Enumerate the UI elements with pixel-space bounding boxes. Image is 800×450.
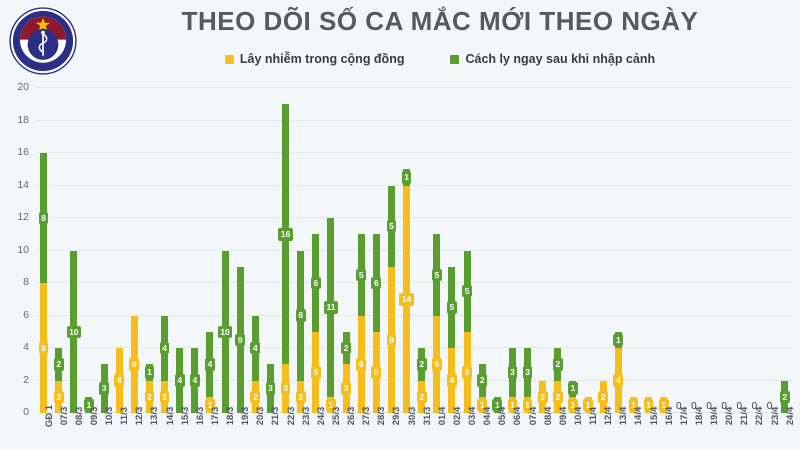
bar-column[interactable]: 1 (81, 88, 96, 413)
bar-column[interactable]: 3 (97, 88, 112, 413)
bar-segment-community[interactable]: 6 (358, 316, 365, 414)
bar-value-label: 6 (311, 277, 321, 290)
bar-column[interactable]: 82 (293, 88, 308, 413)
bar-segment-quarantined[interactable]: 5 (358, 234, 365, 315)
bar-segment-quarantined[interactable]: 8 (40, 153, 47, 283)
x-axis-tick: 23/3 (293, 415, 308, 450)
bar-column[interactable]: 22 (414, 88, 429, 413)
y-axis-tick: 14 (17, 179, 29, 191)
bar-segment-community[interactable]: 5 (373, 332, 380, 413)
legend-label-community: Lây nhiễm trong cộng đồng (240, 52, 405, 66)
bar-column[interactable]: 21 (475, 88, 490, 413)
bar-column[interactable]: 3 (263, 88, 278, 413)
bar-column[interactable]: 41 (202, 88, 217, 413)
bar-column[interactable]: 1 (656, 88, 671, 413)
x-axis-tick: 13/4 (611, 415, 626, 450)
bar-value-label: 8 (296, 309, 306, 322)
bar-segment-quarantined[interactable]: 1 (403, 169, 410, 185)
bar-column[interactable]: 14 (611, 88, 626, 413)
bar-segment-quarantined[interactable]: 4 (191, 348, 198, 413)
x-axis-tick: 07/3 (51, 415, 66, 450)
bar-column[interactable]: 54 (444, 88, 459, 413)
bar-value-label: 2 (598, 391, 608, 404)
bar-value-label: 4 (114, 374, 124, 387)
x-axis-tick: 11/4 (581, 415, 596, 450)
bar-value-label: 2 (145, 391, 155, 404)
bar-segment-community[interactable]: 6 (433, 316, 440, 414)
bar-column[interactable]: 56 (354, 88, 369, 413)
x-axis-tick: 05/4 (490, 415, 505, 450)
x-axis-tick: 10/4 (565, 415, 580, 450)
bar-column[interactable]: 31 (520, 88, 535, 413)
bar-column[interactable]: 42 (248, 88, 263, 413)
bar-column[interactable]: 1 (641, 88, 656, 413)
x-axis-tick: 16/4 (656, 415, 671, 450)
bar-column[interactable]: 163 (278, 88, 293, 413)
bar-segment-community[interactable]: 8 (40, 283, 47, 413)
bar-value-label: 4 (160, 342, 170, 355)
x-axis-tick: GĐ 1 (36, 415, 51, 450)
bar-value-label: 5 (356, 269, 366, 282)
bar-column[interactable]: 0 (762, 88, 777, 413)
bar-segment-quarantined[interactable]: 6 (312, 234, 319, 332)
x-axis-tick: 29/3 (384, 415, 399, 450)
bar-column[interactable]: 0 (702, 88, 717, 413)
bar-segment-quarantined[interactable]: 2 (55, 348, 62, 381)
x-axis-tick: 14/3 (157, 415, 172, 450)
bar-column[interactable]: 0 (732, 88, 747, 413)
bar-value-label: 2 (780, 391, 790, 404)
bar-value-label: 16 (278, 228, 292, 241)
bar-segment-quarantined[interactable]: 8 (297, 251, 304, 381)
x-axis-tick: 16/3 (187, 415, 202, 450)
bar-column[interactable]: 2 (535, 88, 550, 413)
bar-value-label: 4 (447, 374, 457, 387)
legend-label-quarantined: Cách ly ngay sau khi nhập cảnh (465, 52, 655, 66)
y-axis-tick: 20 (17, 81, 29, 93)
bar-value-label: 2 (341, 342, 351, 355)
bar-value-label: 4 (190, 374, 200, 387)
bar-value-label: 8 (39, 212, 49, 225)
bar-segment-community[interactable]: 4 (116, 348, 123, 413)
y-axis-tick: 6 (23, 309, 29, 321)
x-axis-tick: 22/3 (278, 415, 293, 450)
x-axis-tick: 28/3 (369, 415, 384, 450)
bar-column[interactable]: 4 (187, 88, 202, 413)
bar-segment-community[interactable]: 14 (403, 186, 410, 414)
x-axis-tick-label: 24/4 (785, 407, 796, 426)
bar-segment-quarantined[interactable]: 3 (267, 364, 274, 413)
bar-value-label: 5 (462, 366, 472, 379)
bar-column[interactable]: 2 (777, 88, 792, 413)
bar-value-label: 6 (432, 358, 442, 371)
x-axis-tick: 02/4 (444, 415, 459, 450)
x-axis-tick: 22/4 (747, 415, 762, 450)
bar-segment-community[interactable]: 3 (282, 364, 289, 413)
y-axis-tick: 12 (17, 211, 29, 223)
bar-column[interactable]: 22 (550, 88, 565, 413)
bar-value-label: 3 (99, 382, 109, 395)
bar-value-label: 5 (462, 285, 472, 298)
x-axis-tick: 08/3 (66, 415, 81, 450)
bar-segment-quarantined[interactable]: 3 (509, 348, 516, 397)
bar-column[interactable]: 0 (671, 88, 686, 413)
bar-segment-quarantined[interactable]: 16 (282, 104, 289, 364)
bar-value-label: 2 (54, 358, 64, 371)
bar-value-label: 10 (218, 326, 232, 339)
y-axis-tick: 4 (23, 341, 29, 353)
legend-swatch-quarantined (450, 55, 459, 64)
bar-column[interactable]: 2 (596, 88, 611, 413)
bar-column[interactable]: 1 (490, 88, 505, 413)
x-axis-tick: 23/4 (762, 415, 777, 450)
bar-value-label: 2 (296, 391, 306, 404)
bar-column[interactable]: 114 (399, 88, 414, 413)
x-axis-tick: 25/3 (323, 415, 338, 450)
bar-value-label: 4 (613, 374, 623, 387)
bar-column[interactable]: 1 (626, 88, 641, 413)
x-axis-tick: 09/3 (81, 415, 96, 450)
x-axis-tick: 19/4 (702, 415, 717, 450)
bar-segment-quarantined[interactable]: 2 (479, 364, 486, 397)
page-title: THEO DÕI SỐ CA MẮC MỚI THEO NGÀY (110, 6, 770, 37)
x-axis-tick: 07/4 (520, 415, 535, 450)
bar-segment-quarantined[interactable]: 4 (161, 316, 168, 381)
bar-column[interactable]: 23 (339, 88, 354, 413)
bar-column[interactable]: 22 (51, 88, 66, 413)
legend-item-quarantined[interactable]: Cách ly ngay sau khi nhập cảnh (450, 52, 655, 66)
bar-value-label: 3 (508, 366, 518, 379)
bar-value-label: 5 (432, 269, 442, 282)
bar-value-label: 3 (341, 382, 351, 395)
bar-value-label: 3 (281, 382, 291, 395)
x-axis-tick: 20/3 (248, 415, 263, 450)
bar-value-label: 2 (553, 358, 563, 371)
bar-value-label: 5 (311, 366, 321, 379)
bar-value-label: 9 (235, 334, 245, 347)
x-axis-tick: 21/4 (732, 415, 747, 450)
legend-item-community[interactable]: Lây nhiễm trong cộng đồng (225, 52, 405, 66)
bar-column[interactable]: 11 (565, 88, 580, 413)
bar-segment-quarantined[interactable]: 2 (343, 332, 350, 365)
bar-segment-quarantined[interactable]: 5 (448, 267, 455, 348)
bar-value-label: 2 (553, 391, 563, 404)
bar-segment-community[interactable]: 5 (464, 332, 471, 413)
x-axis-tick: 26/3 (339, 415, 354, 450)
x-axis-tick: 27/3 (354, 415, 369, 450)
bar-value-label: 9 (387, 334, 397, 347)
bar-value-label: 3 (266, 382, 276, 395)
x-axis-tick: 24/4 (777, 415, 792, 450)
y-axis-tick: 8 (23, 276, 29, 288)
bar-segment-quarantined[interactable]: 4 (176, 348, 183, 413)
x-axis-tick: 20/4 (717, 415, 732, 450)
x-axis-tick: 03/4 (460, 415, 475, 450)
bar-segment-community[interactable]: 5 (312, 332, 319, 413)
x-axis-tick: 18/4 (686, 415, 701, 450)
x-axis-tick: 13/3 (142, 415, 157, 450)
x-axis-tick: 10/3 (97, 415, 112, 450)
bar-segment-quarantined[interactable]: 3 (524, 348, 531, 397)
chart-bars: 8822101346124244411094231638265111235665… (36, 88, 792, 413)
x-axis-tick: 17/3 (202, 415, 217, 450)
bar-column[interactable]: 111 (323, 88, 338, 413)
bar-segment-community[interactable]: 4 (448, 348, 455, 413)
bar-segment-quarantined[interactable]: 9 (237, 267, 244, 413)
bar-segment-quarantined[interactable]: 1 (146, 364, 153, 380)
bar-value-label: 1 (145, 366, 155, 379)
chart-plot-area: 02468101214161820 8822101346124244411094… (36, 88, 792, 413)
bar-value-label: 2 (54, 391, 64, 404)
bar-value-label: 1 (613, 334, 623, 347)
bar-segment-quarantined[interactable]: 5 (433, 234, 440, 315)
bar-segment-quarantined[interactable]: 1 (569, 381, 576, 397)
bar-value-label: 5 (447, 301, 457, 314)
bar-segment-community[interactable]: 4 (615, 348, 622, 413)
x-axis-tick: 21/3 (263, 415, 278, 450)
bar-segment-quarantined[interactable]: 4 (252, 316, 259, 381)
bar-value-label: 4 (205, 358, 215, 371)
bar-value-label: 3 (523, 366, 533, 379)
y-axis-tick: 0 (23, 406, 29, 418)
bar-segment-quarantined[interactable]: 6 (373, 234, 380, 332)
bar-column[interactable]: 59 (384, 88, 399, 413)
bar-column[interactable]: 1 (581, 88, 596, 413)
bar-value-label: 6 (129, 358, 139, 371)
bar-value-label: 2 (417, 358, 427, 371)
x-axis-tick: 15/3 (172, 415, 187, 450)
y-axis-tick: 16 (17, 146, 29, 158)
bar-value-label: 2 (160, 391, 170, 404)
bar-column[interactable]: 56 (429, 88, 444, 413)
x-axis-tick: 31/3 (414, 415, 429, 450)
bar-value-label: 2 (477, 374, 487, 387)
bar-column[interactable]: 9 (233, 88, 248, 413)
chart-legend: Lây nhiễm trong cộng đồng Cách ly ngay s… (110, 52, 770, 66)
bar-segment-community[interactable]: 3 (343, 364, 350, 413)
bar-column[interactable]: 4 (112, 88, 127, 413)
bar-segment-quarantined[interactable]: 10 (70, 251, 77, 414)
bar-column[interactable]: 55 (460, 88, 475, 413)
x-axis-tick: 01/4 (429, 415, 444, 450)
x-axis-tick: 24/3 (308, 415, 323, 450)
bar-value-label: 6 (371, 277, 381, 290)
bar-value-label: 2 (538, 391, 548, 404)
x-axis-tick: 08/4 (535, 415, 550, 450)
x-axis-tick: 14/4 (626, 415, 641, 450)
bar-segment-community[interactable]: 9 (388, 267, 395, 413)
bar-value-label: 2 (417, 391, 427, 404)
x-axis-tick: 19/3 (233, 415, 248, 450)
x-axis-tick: 06/4 (505, 415, 520, 450)
chart-x-axis: GĐ 107/308/309/310/311/312/313/314/315/3… (36, 415, 792, 450)
bar-column[interactable]: 65 (369, 88, 384, 413)
ministry-of-health-logo (8, 6, 78, 76)
bar-value-label: 1 (568, 382, 578, 395)
bar-segment-quarantined[interactable]: 10 (222, 251, 229, 414)
bar-segment-quarantined[interactable]: 2 (418, 348, 425, 381)
x-axis-tick: 15/4 (641, 415, 656, 450)
x-axis-tick: 09/4 (550, 415, 565, 450)
bar-column[interactable]: 65 (308, 88, 323, 413)
legend-swatch-community (225, 55, 234, 64)
x-axis-tick: 04/4 (475, 415, 490, 450)
bar-column[interactable]: 0 (686, 88, 701, 413)
bar-segment-quarantined[interactable]: 5 (388, 186, 395, 267)
bar-segment-quarantined[interactable]: 2 (554, 348, 561, 381)
bar-value-label: 6 (356, 358, 366, 371)
bar-value-label: 8 (39, 342, 49, 355)
bar-column[interactable]: 0 (747, 88, 762, 413)
bar-segment-quarantined[interactable]: 5 (464, 251, 471, 332)
x-axis-tick: 12/3 (127, 415, 142, 450)
bar-segment-quarantined[interactable]: 1 (615, 332, 622, 348)
bar-value-label: 4 (250, 342, 260, 355)
bar-column[interactable]: 31 (505, 88, 520, 413)
bar-value-label: 2 (250, 391, 260, 404)
bar-value-label: 11 (324, 301, 338, 314)
bar-segment-quarantined[interactable]: 4 (206, 332, 213, 397)
y-axis-tick: 2 (23, 374, 29, 386)
bar-value-label: 14 (399, 293, 413, 306)
y-axis-tick: 18 (17, 114, 29, 126)
bar-column[interactable]: 42 (157, 88, 172, 413)
bar-segment-quarantined[interactable]: 11 (327, 218, 334, 397)
bar-column[interactable]: 6 (127, 88, 142, 413)
bar-segment-quarantined[interactable]: 3 (101, 364, 108, 413)
x-axis-tick: 18/3 (218, 415, 233, 450)
bar-column[interactable]: 10 (218, 88, 233, 413)
bar-segment-community[interactable]: 6 (131, 316, 138, 414)
x-axis-tick: 17/4 (671, 415, 686, 450)
bar-value-label: 1 (402, 171, 412, 184)
bar-value-label: 4 (175, 374, 185, 387)
x-axis-tick: 12/4 (596, 415, 611, 450)
bar-value-label: 5 (371, 366, 381, 379)
x-axis-tick: 30/3 (399, 415, 414, 450)
bar-column[interactable]: 10 (66, 88, 81, 413)
bar-column[interactable]: 88 (36, 88, 51, 413)
y-axis-tick: 10 (17, 244, 29, 256)
bar-column[interactable]: 4 (172, 88, 187, 413)
bar-column[interactable]: 12 (142, 88, 157, 413)
x-axis-tick: 11/3 (112, 415, 127, 450)
bar-value-label: 5 (387, 220, 397, 233)
bar-value-label: 10 (67, 326, 81, 339)
bar-column[interactable]: 0 (717, 88, 732, 413)
